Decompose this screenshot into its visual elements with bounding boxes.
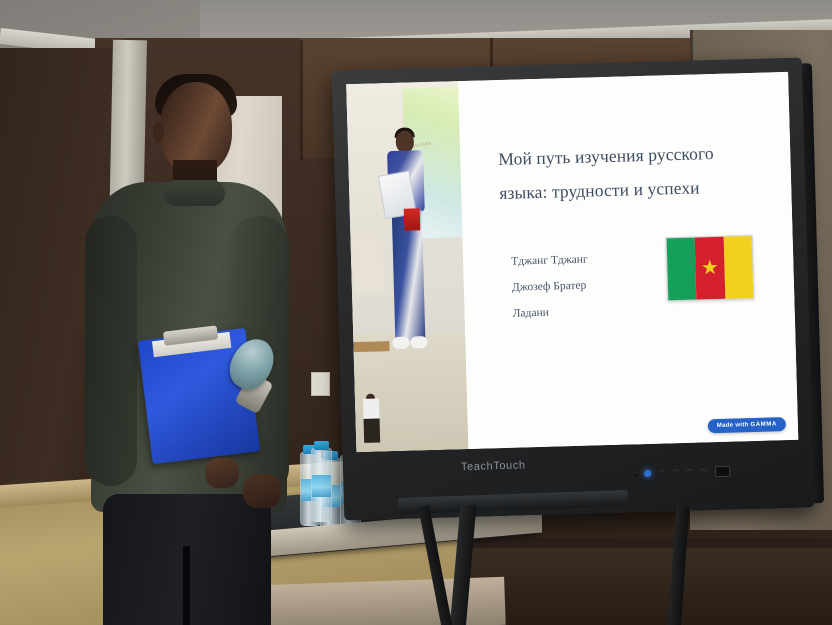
photo-shoe-left [392, 337, 409, 349]
bottle-cap [314, 441, 329, 450]
presentation-room-photo: русский [0, 0, 832, 625]
author-name: Джозеф Братер [512, 273, 589, 301]
photo-bg-body [363, 398, 380, 442]
display-screen[interactable]: русский [346, 72, 798, 452]
badge-prefix: Made with [717, 422, 751, 429]
bottle-label [312, 475, 331, 497]
presenter-ear [153, 122, 164, 142]
teachtouch-logo: TeachTouch [461, 459, 526, 473]
photo-main-subject [384, 130, 433, 391]
photo-shoe-right [410, 336, 427, 348]
slide-authors: Тджанг Тджанг Джозеф Братер Ладани [511, 248, 590, 328]
flag-band-red: ★ [695, 237, 725, 300]
usb-port[interactable] [715, 466, 730, 477]
flag-band-green [667, 238, 697, 301]
menu-button[interactable] [658, 469, 665, 476]
presenter-leg-gap [183, 546, 190, 625]
water-bottle [311, 448, 332, 522]
light-switch[interactable] [311, 372, 330, 396]
slide-title-line-2: языка: трудности и успехи [499, 169, 760, 210]
volume-up-button[interactable] [700, 468, 707, 475]
presentation-slide: русский [346, 72, 798, 452]
power-button[interactable] [644, 470, 651, 477]
photo-desk [353, 341, 389, 352]
presenter-collar [163, 180, 225, 206]
author-name: Ладани [512, 299, 589, 327]
wood-seam [300, 40, 303, 160]
made-with-gamma-badge[interactable]: Made with GAMMA [708, 417, 786, 433]
flag-band-yellow [723, 236, 753, 299]
slide-content: Мой путь изучения русского языка: трудно… [458, 72, 798, 449]
presenter-arm-left [85, 216, 137, 486]
flag-star-icon: ★ [701, 258, 719, 278]
badge-brand: GAMMA [750, 421, 777, 428]
ir-sensor-icon [633, 472, 637, 476]
presenter-hand-left [205, 458, 239, 488]
student-with-certificates-photo: русский [346, 81, 468, 452]
source-button[interactable] [672, 469, 679, 476]
photo-background-figure [352, 233, 384, 294]
slide-title: Мой путь изучения русского языка: трудно… [498, 135, 760, 210]
interactive-display[interactable]: русский [332, 58, 814, 521]
photo-red-booklet [404, 208, 421, 230]
presenter [55, 76, 295, 625]
volume-down-button[interactable] [686, 469, 693, 476]
author-name: Тджанг Тджанг [511, 248, 588, 276]
presenter-hand-right [243, 474, 281, 508]
cameroon-flag-icon: ★ [666, 235, 755, 301]
